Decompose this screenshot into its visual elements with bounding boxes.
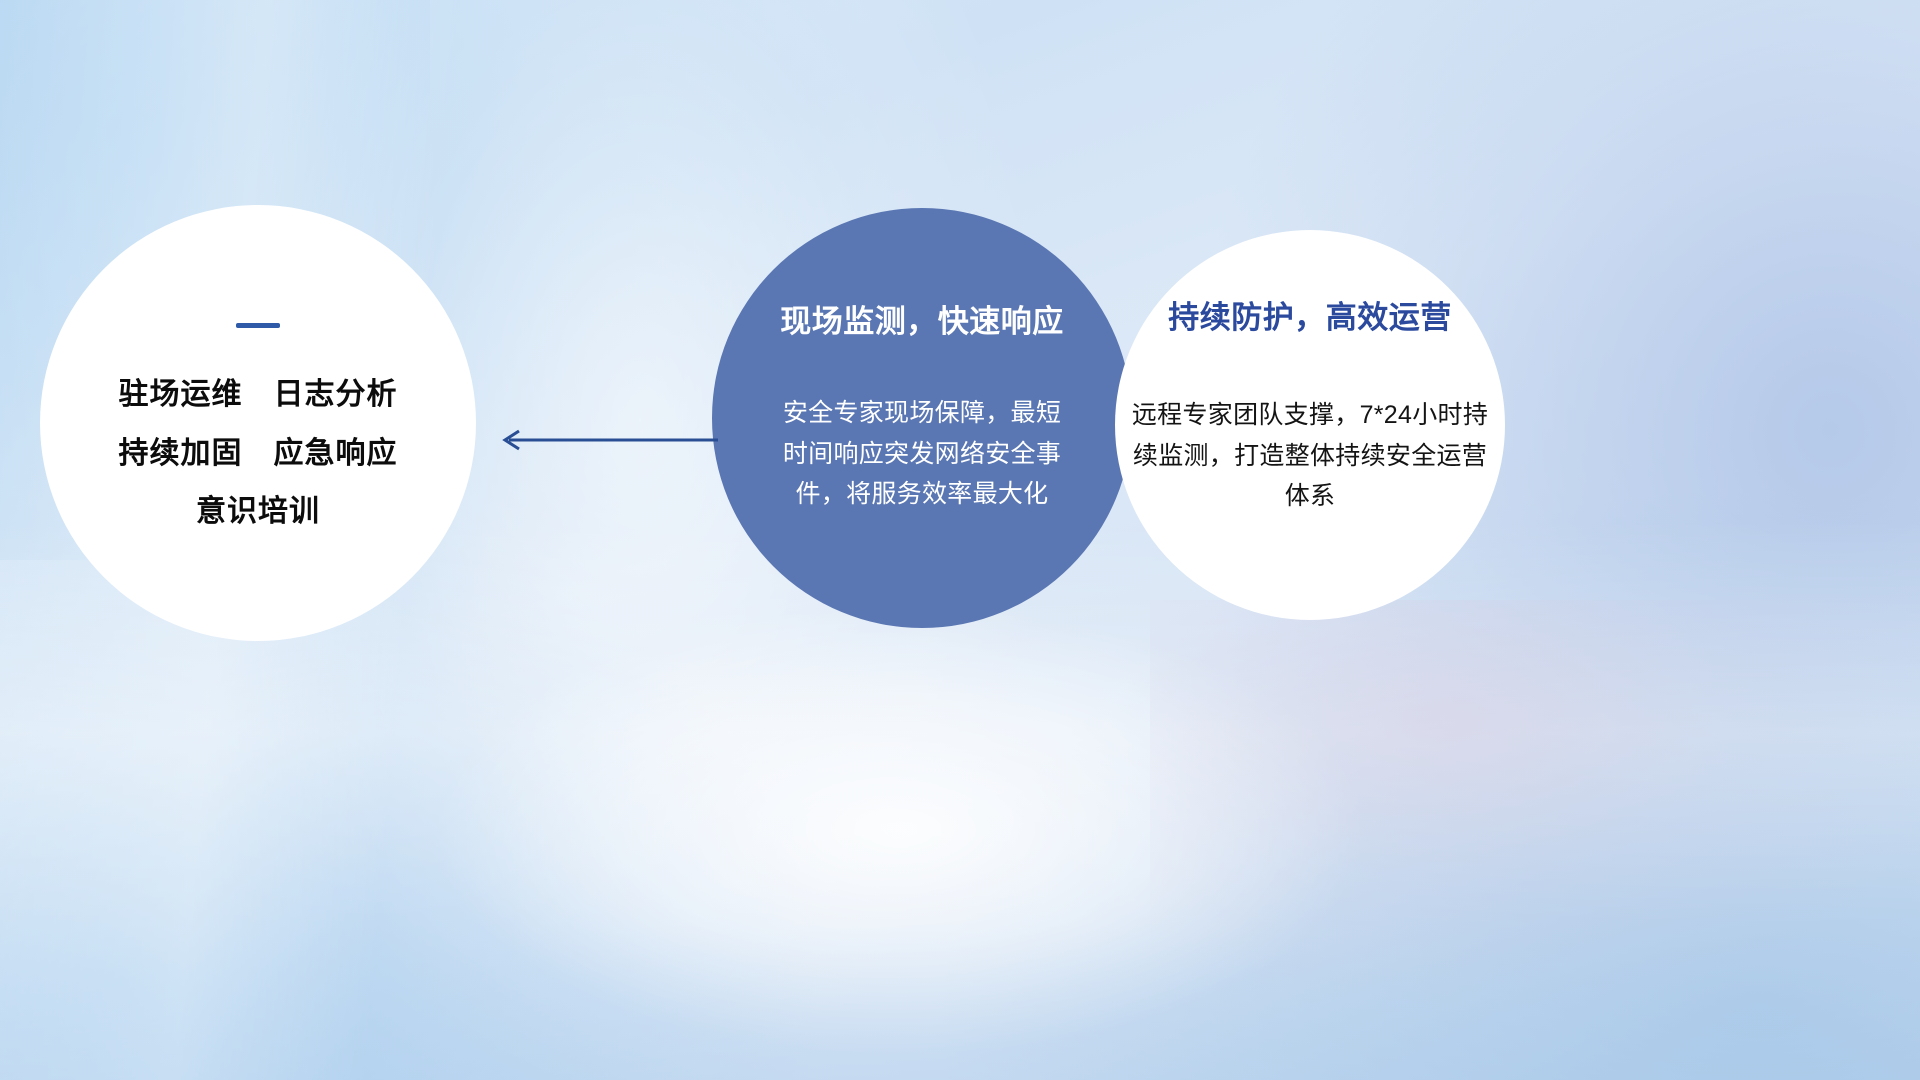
arrow-left-icon [493,424,718,456]
slide-canvas: 驻场运维 日志分析 持续加固 应急响应 意识培训 现场监测，快速响应 安全专家现… [0,0,1920,1080]
background-sweep-right [1150,600,1920,1080]
center-circle-title: 现场监测，快速响应 [780,296,1064,341]
center-circle-content: 现场监测，快速响应 安全专家现场保障，最短时间响应突发网络安全事件，将服务效率最… [700,208,1144,628]
left-circle-content: 驻场运维 日志分析 持续加固 应急响应 意识培训 [40,205,476,641]
left-circle-line: 驻场运维 日志分析 [119,366,398,425]
right-circle-title: 持续防护，高效运营 [1168,292,1452,337]
center-circle-body: 安全专家现场保障，最短时间响应突发网络安全事件，将服务效率最大化 [772,393,1072,515]
left-circle-text-block: 驻场运维 日志分析 持续加固 应急响应 意识培训 [119,366,398,542]
left-circle-line: 持续加固 应急响应 [119,425,398,484]
right-circle-content: 持续防护，高效运营 远程专家团队支撑，7*24小时持续监测，打造整体持续安全运营… [1110,230,1510,620]
right-circle-body: 远程专家团队支撑，7*24小时持续监测，打造整体持续安全运营体系 [1128,395,1492,517]
accent-dash-divider [236,323,280,328]
left-circle-line: 意识培训 [119,483,398,542]
